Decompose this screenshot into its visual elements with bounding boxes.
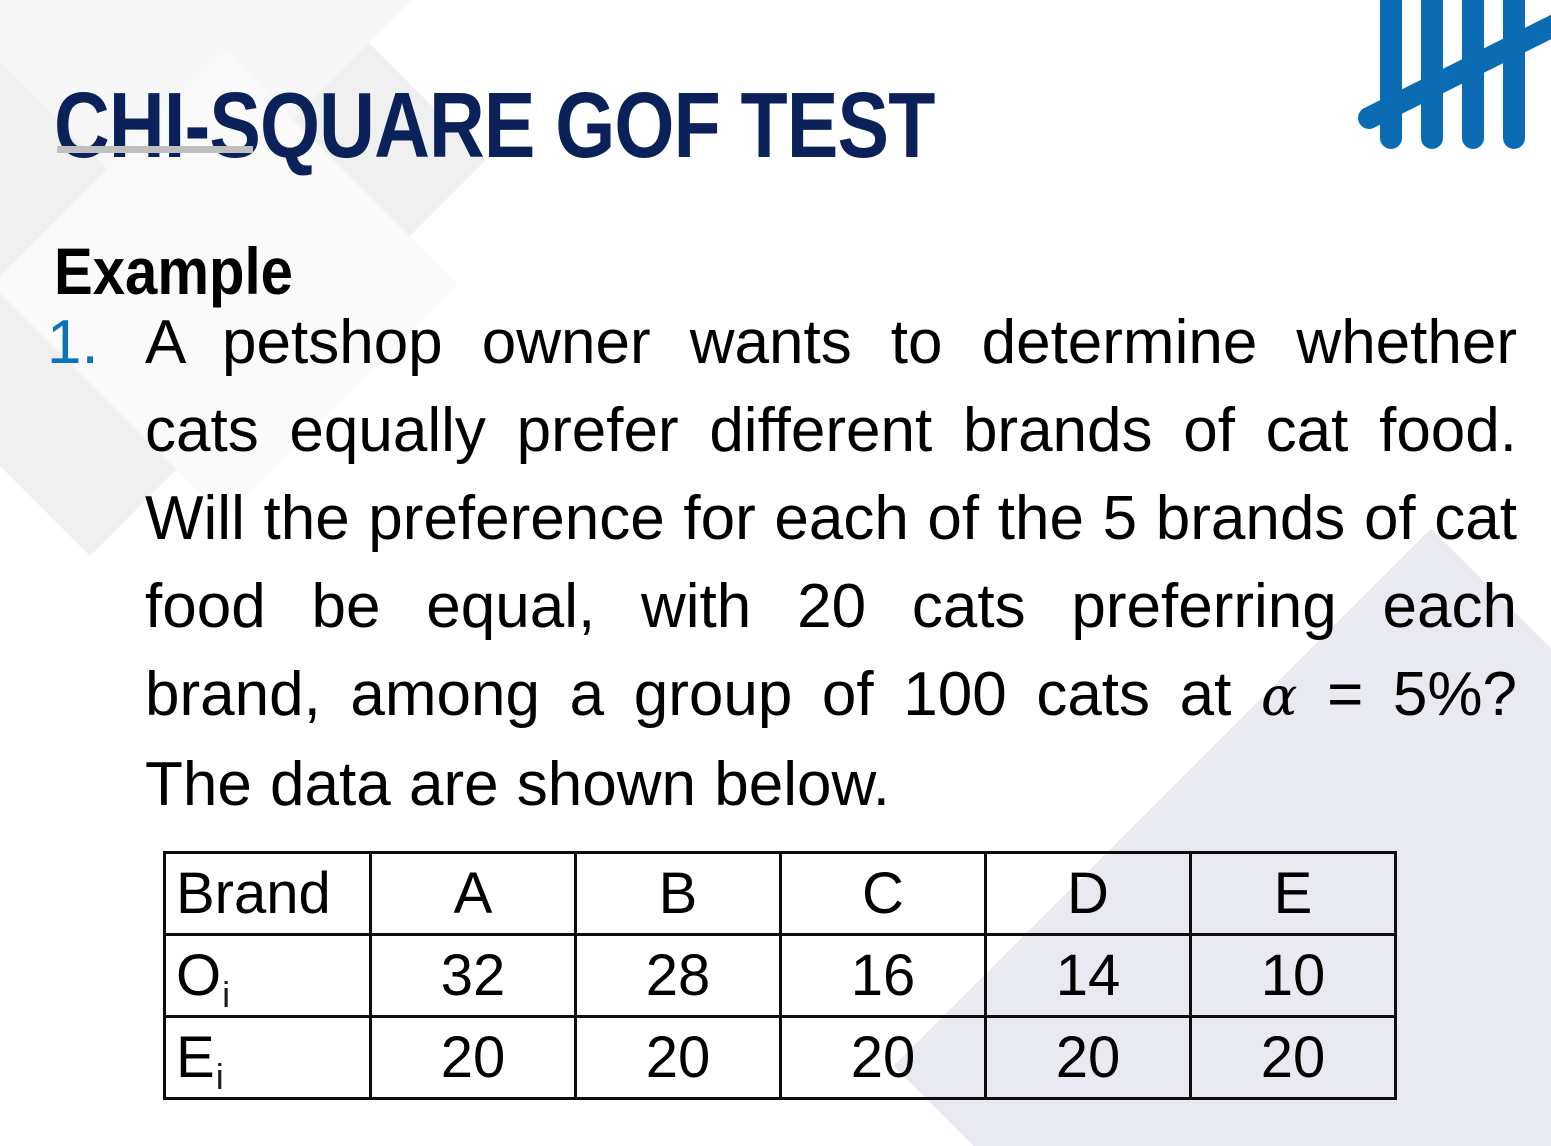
- expected-symbol: E: [176, 1025, 215, 1090]
- alpha-symbol: α: [1261, 665, 1297, 728]
- table-cell-observed-d: 14: [986, 935, 1191, 1017]
- tally-marks-icon: [1356, 0, 1551, 150]
- table-cell-expected-d: 20: [986, 1017, 1191, 1099]
- question-text: A petshop owner wants to determine wheth…: [145, 299, 1517, 829]
- table-cell-brand-a: A: [371, 853, 576, 935]
- table-rowheader-observed: Oi: [165, 935, 371, 1017]
- observed-symbol: O: [176, 943, 221, 1008]
- section-heading-example: Example: [54, 238, 293, 304]
- slide-canvas: CHI-SQUARE GOF TEST Example 1. A petshop…: [0, 0, 1551, 1146]
- expected-subscript: i: [216, 1056, 224, 1097]
- table-cell-observed-e: 10: [1191, 935, 1396, 1017]
- question-block: 1. A petshop owner wants to determine wh…: [47, 299, 1517, 829]
- observed-expected-table: Brand A B C D E Oi 32 28 16 14 10 Ei 20 …: [163, 851, 1397, 1100]
- table-cell-brand-e: E: [1191, 853, 1396, 935]
- table-rowheader-expected: Ei: [165, 1017, 371, 1099]
- observed-subscript: i: [222, 974, 230, 1015]
- table-row-brand: Brand A B C D E: [165, 853, 1396, 935]
- table-cell-brand-b: B: [576, 853, 781, 935]
- page-title: CHI-SQUARE GOF TEST: [54, 78, 935, 173]
- question-number: 1.: [47, 299, 145, 387]
- table-cell-expected-b: 20: [576, 1017, 781, 1099]
- table-cell-observed-a: 32: [371, 935, 576, 1017]
- table-rowheader-brand: Brand: [165, 853, 371, 935]
- title-underline-rule: [57, 146, 253, 153]
- table-row-observed: Oi 32 28 16 14 10: [165, 935, 1396, 1017]
- table-cell-brand-d: D: [986, 853, 1191, 935]
- table-cell-brand-c: C: [781, 853, 986, 935]
- table-cell-expected-e: 20: [1191, 1017, 1396, 1099]
- table-cell-observed-b: 28: [576, 935, 781, 1017]
- table-cell-expected-a: 20: [371, 1017, 576, 1099]
- table-cell-expected-c: 20: [781, 1017, 986, 1099]
- table-row-expected: Ei 20 20 20 20 20: [165, 1017, 1396, 1099]
- table-cell-observed-c: 16: [781, 935, 986, 1017]
